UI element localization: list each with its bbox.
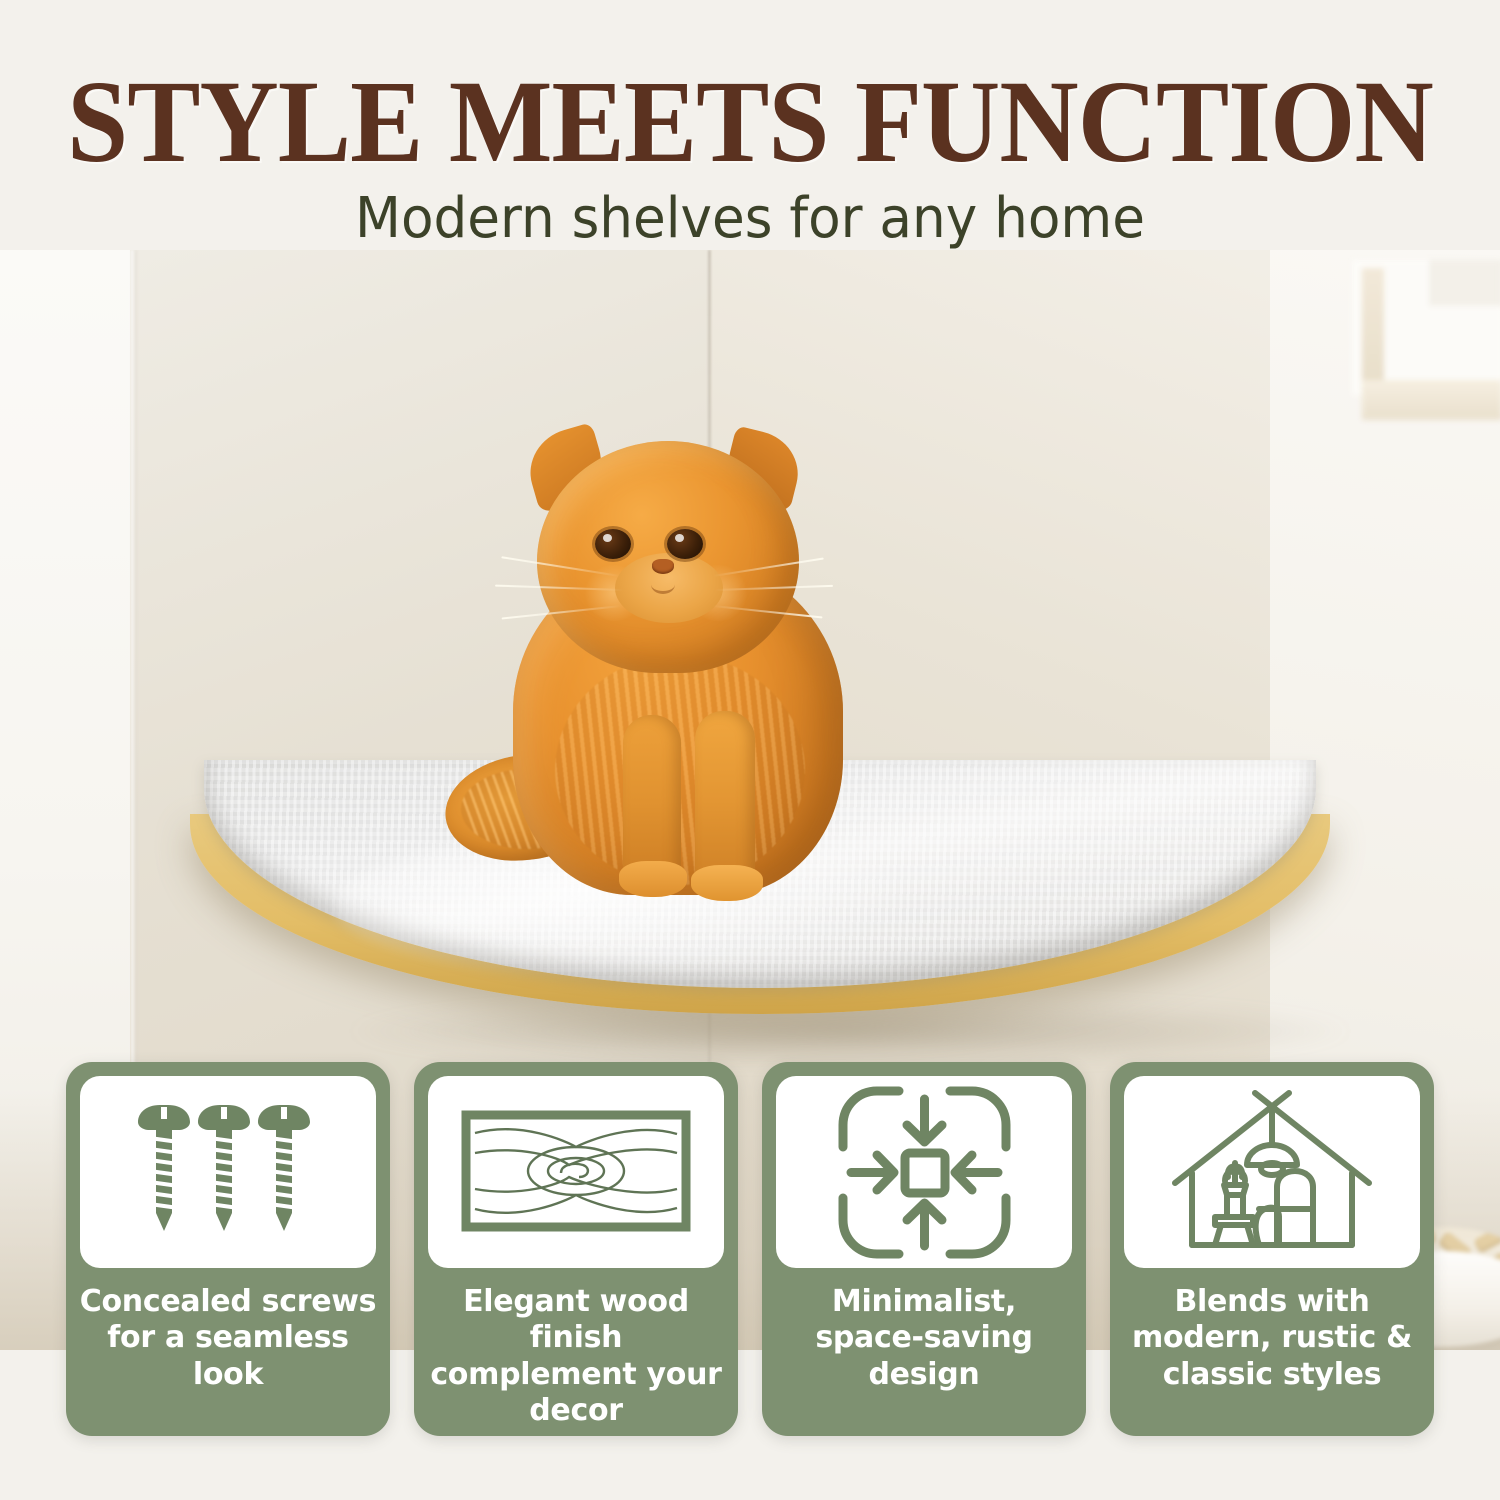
infographic-canvas: STYLE MEETS FUNCTION Modern shelves for … — [0, 0, 1500, 1500]
feature-card-space-saving[interactable]: Minimalist, space-saving design — [762, 1062, 1086, 1436]
page-subtitle: Modern shelves for any home — [38, 190, 1463, 249]
feature-label: Concealed screws for a seamless look — [78, 1284, 378, 1393]
feature-card-blends-styles[interactable]: Blends with modern, rustic & classic sty… — [1110, 1062, 1434, 1436]
home-interior-icon — [1167, 1087, 1377, 1257]
icon-container — [428, 1076, 724, 1268]
icon-container — [776, 1076, 1072, 1268]
header: STYLE MEETS FUNCTION Modern shelves for … — [0, 0, 1500, 270]
feature-label: Minimalist, space-saving design — [774, 1284, 1074, 1393]
screws-icon — [128, 1097, 328, 1247]
icon-container — [80, 1076, 376, 1268]
feature-cards: Concealed screws for a seamless look — [0, 1062, 1500, 1442]
feature-label: Elegant wood finish complement your deco… — [426, 1284, 726, 1429]
feature-card-concealed-screws[interactable]: Concealed screws for a seamless look — [66, 1062, 390, 1436]
wood-grain-icon — [461, 1107, 691, 1237]
feature-label: Blends with modern, rustic & classic sty… — [1122, 1284, 1422, 1393]
page-title: STYLE MEETS FUNCTION — [53, 62, 1448, 182]
cat — [455, 425, 885, 895]
icon-container — [1124, 1076, 1420, 1268]
space-saving-icon — [837, 1085, 1012, 1260]
background-shelf — [1352, 260, 1500, 460]
feature-card-wood-finish[interactable]: Elegant wood finish complement your deco… — [414, 1062, 738, 1436]
